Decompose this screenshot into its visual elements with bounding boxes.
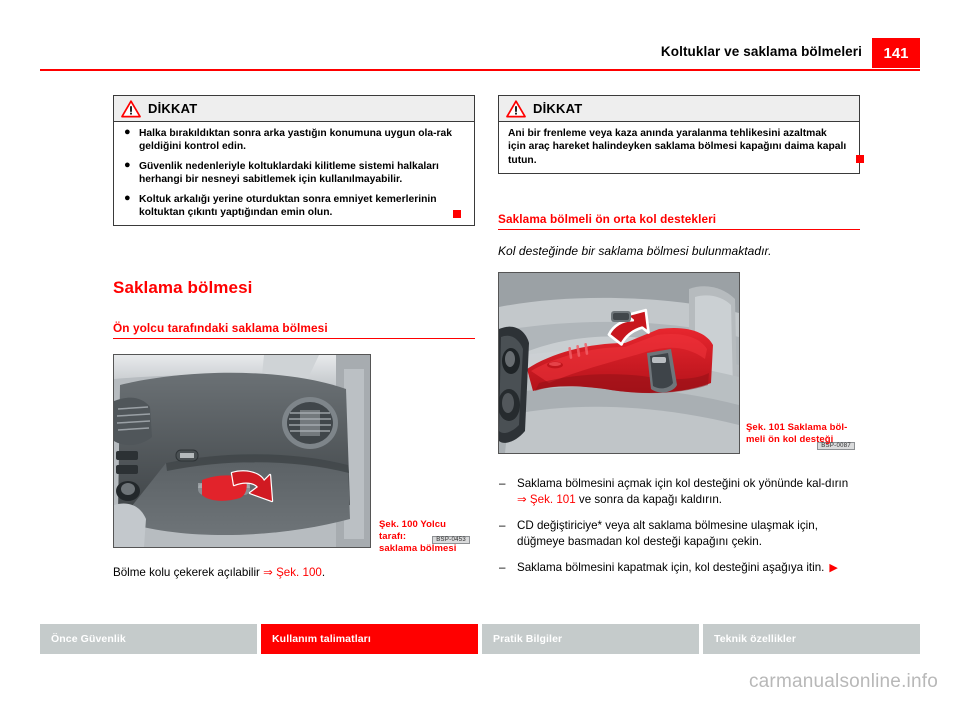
list-item: –Saklama bölmesini açmak için kol desteğ… (498, 476, 860, 507)
figure-caption-line2: saklama bölmesi (379, 543, 475, 555)
warning-header: DİKKAT (499, 96, 859, 122)
continuation-arrow-icon: ▶ (829, 562, 837, 574)
warning-title: DİKKAT (148, 101, 197, 116)
armrest-console-photo (498, 272, 740, 454)
glovebox-illustration (114, 355, 370, 547)
figure-caption: Şek. 101 Saklama böl- meli ön kol desteğ… (746, 422, 860, 446)
list-item: –CD değiştiriciye* veya alt saklama bölm… (498, 518, 860, 549)
left-column: DİKKAT ● Halka bırakıldıktan sonra arka … (113, 95, 475, 580)
dash-glyph: – (499, 560, 505, 576)
warning-text: Ani bir frenleme veya kaza anında yarala… (508, 127, 847, 167)
armrest-intro: Kol desteğinde bir saklama bölmesi bulun… (498, 244, 860, 258)
list-item: –Saklama bölmesini kapatmak için, kol de… (498, 560, 860, 577)
warning-title: DİKKAT (533, 101, 582, 116)
right-column: DİKKAT Ani bir frenleme veya kaza anında… (498, 95, 860, 588)
warning-item-text: Güvenlik nedenleriyle koltuklardaki kili… (139, 161, 439, 185)
page-title: Koltuklar ve saklama bölmeleri (661, 44, 862, 59)
figure-caption: Şek. 100 Yolcu tarafı: saklama bölmesi (379, 519, 475, 555)
warning-item-text: Koltuk arkalığı yerine oturduktan sonra … (139, 194, 437, 218)
header-divider (40, 69, 920, 71)
subheading-kol-destekleri: Saklama bölmeli ön orta kol destekleri (498, 212, 860, 230)
figure-100: BSP-0453 Şek. 100 Yolcu tarafı: saklama … (113, 354, 475, 548)
warning-item: ● Halka bırakıldıktan sonra arka yastığı… (123, 127, 462, 154)
warning-body: Ani bir frenleme veya kaza anında yarala… (499, 122, 859, 173)
warning-header: DİKKAT (114, 96, 474, 122)
site-watermark: carmanualsonline.info (749, 671, 938, 693)
figure-xref-101[interactable]: ⇒ Şek. 101 (517, 493, 576, 506)
warning-box-left: DİKKAT ● Halka bırakıldıktan sonra arka … (113, 95, 475, 226)
armrest-illustration (499, 273, 739, 453)
warning-triangle-icon (506, 100, 526, 118)
footer-tab-teknik-ozellikler[interactable]: Teknik özellikler (703, 624, 920, 654)
bullet-glyph: ● (124, 192, 131, 205)
warning-item: ● Koltuk arkalığı yerine oturduktan sonr… (123, 193, 462, 220)
list-item-text-end: ve sonra da kapağı kaldırın. (576, 493, 722, 506)
instruction-text-end: . (322, 566, 325, 579)
figure-caption-line1: Şek. 101 Saklama böl- (746, 422, 860, 434)
warning-item-text: Halka bırakıldıktan sonra arka yastığın … (139, 128, 452, 152)
figure-xref-100[interactable]: ⇒ Şek. 100 (263, 566, 322, 579)
dash-glyph: – (499, 476, 505, 492)
subheading-on-yolcu: Ön yolcu tarafındaki saklama bölmesi (113, 321, 475, 339)
list-item-text: Saklama bölmesini açmak için kol desteği… (517, 477, 848, 490)
figure-101: BSP-0087 Şek. 101 Saklama böl- meli ön k… (498, 272, 860, 454)
section-end-marker (856, 155, 864, 163)
footer-tab-pratik-bilgiler[interactable]: Pratik Bilgiler (482, 624, 699, 654)
warning-triangle-icon (121, 100, 141, 118)
glovebox-instruction: Bölme kolu çekerek açılabilir ⇒ Şek. 100… (113, 565, 475, 580)
heading-saklama-bolmesi: Saklama bölmesi (113, 278, 475, 298)
armrest-steps: –Saklama bölmesini açmak için kol desteğ… (498, 476, 860, 577)
page-number-badge: 141 (872, 38, 920, 68)
figure-caption-line2: meli ön kol desteği (746, 434, 860, 446)
footer-tab-kullanim-talimatlari[interactable]: Kullanım talimatları (261, 624, 478, 654)
bullet-glyph: ● (124, 159, 131, 172)
figure-caption-line1: Şek. 100 Yolcu tarafı: (379, 519, 475, 543)
bullet-glyph: ● (124, 126, 131, 139)
warning-box-right: DİKKAT Ani bir frenleme veya kaza anında… (498, 95, 860, 174)
glovebox-photo (113, 354, 371, 548)
warning-body: ● Halka bırakıldıktan sonra arka yastığı… (114, 122, 474, 225)
page-header: Koltuklar ve saklama bölmeleri 141 (40, 42, 920, 72)
list-item-text: CD değiştiriciye* veya alt saklama bölme… (517, 519, 818, 548)
warning-item: ● Güvenlik nedenleriyle koltuklardaki ki… (123, 160, 462, 187)
section-end-marker (453, 210, 461, 218)
footer-tab-once-guvenlik[interactable]: Önce Güvenlik (40, 624, 257, 654)
footer-navigation: Önce Güvenlik Kullanım talimatları Prati… (40, 624, 920, 654)
list-item-text: Saklama bölmesini kapatmak için, kol des… (517, 561, 824, 574)
dash-glyph: – (499, 518, 505, 534)
instruction-text: Bölme kolu çekerek açılabilir (113, 566, 263, 579)
